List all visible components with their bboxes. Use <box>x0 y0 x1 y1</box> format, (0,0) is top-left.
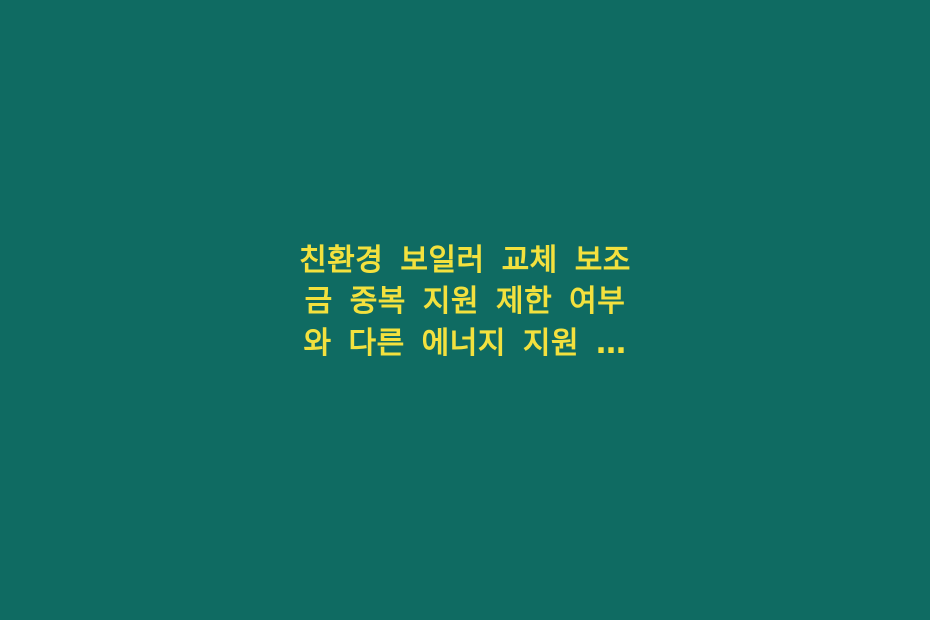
headline-line-3: 와 다른 에너지 지원 … <box>45 323 885 364</box>
text-card: 친환경 보일러 교체 보조 금 중복 지원 제한 여부 와 다른 에너지 지원 … <box>0 0 930 620</box>
headline-line-2: 금 중복 지원 제한 여부 <box>45 281 885 322</box>
headline-line-1: 친환경 보일러 교체 보조 <box>45 240 885 281</box>
headline: 친환경 보일러 교체 보조 금 중복 지원 제한 여부 와 다른 에너지 지원 … <box>45 240 885 364</box>
